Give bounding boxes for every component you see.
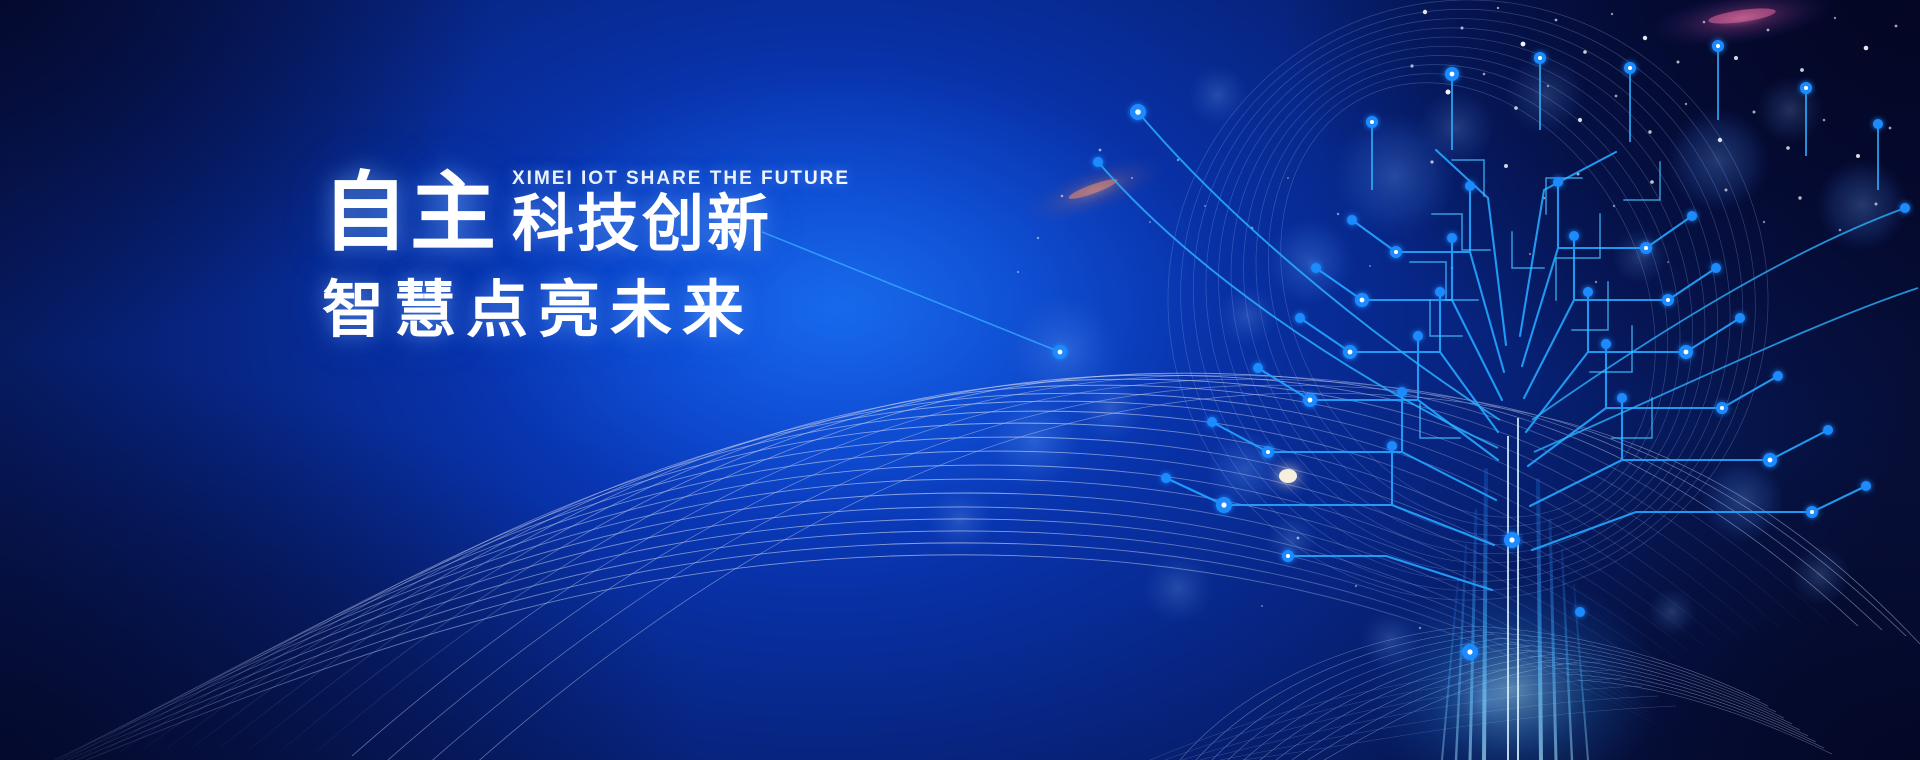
headline-connector-line (762, 232, 1067, 359)
hero-banner: 自主 XIMEI IOT SHARE THE FUTURE 科技创新 智慧点亮未… (0, 0, 1920, 760)
circuit-tree (0, 0, 1920, 760)
